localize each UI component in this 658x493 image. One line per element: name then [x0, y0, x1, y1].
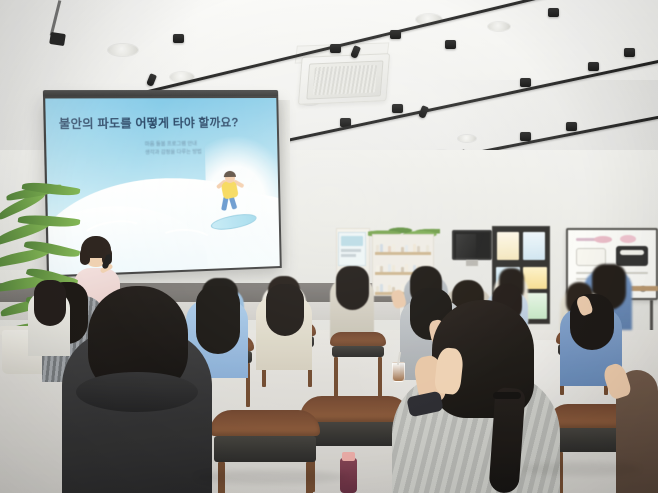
floor-shadow — [196, 470, 346, 484]
spotlight-icon — [445, 40, 456, 49]
photograph-lecture-room: 불안의 파도를 어떻게 타야 할까요? 마음 돌봄 프로그램 안내 생각과 감정… — [0, 0, 658, 493]
spotlight-icon — [392, 104, 403, 113]
spotlight-icon — [390, 30, 401, 39]
spotlight-icon — [588, 62, 599, 71]
wall-sign-graphic — [341, 236, 363, 246]
spotlight-icon — [330, 44, 341, 53]
air-conditioner-unit — [298, 53, 390, 105]
poster — [523, 232, 545, 260]
whiteboard-note — [620, 250, 644, 255]
audience-hair — [266, 284, 304, 336]
monitor-stand — [466, 260, 478, 266]
hair-tie — [493, 392, 521, 399]
ac-grill — [313, 65, 377, 96]
spotlight-icon — [624, 48, 635, 57]
audience-hair — [34, 280, 66, 326]
whiteboard-note — [616, 246, 648, 266]
audience-hair — [196, 286, 240, 354]
surfer-illustration — [216, 171, 247, 218]
bottle-cap — [342, 452, 355, 461]
poster — [497, 232, 519, 260]
slide-subtitle: 마음 돌봄 프로그램 안내 생각과 감정을 다루는 방법 — [145, 140, 258, 157]
spotlight-icon — [520, 78, 531, 87]
whiteboard-note — [594, 236, 612, 243]
whiteboard-note — [620, 235, 636, 243]
projector-device — [49, 32, 66, 46]
spotlight-icon — [173, 34, 184, 43]
book-row — [376, 239, 430, 252]
spotlight-icon — [520, 132, 531, 141]
wall-sign-textline — [341, 254, 356, 257]
wall-monitor — [452, 230, 492, 260]
ceiling-speaker-icon — [458, 135, 476, 142]
ceiling-speaker-icon — [108, 44, 138, 56]
audience-hair — [336, 266, 369, 310]
spotlight-icon — [566, 122, 577, 131]
floor-shadow — [520, 462, 640, 476]
ceiling-speaker-icon — [488, 22, 510, 31]
hoodie-collar — [76, 372, 198, 412]
slide-title: 불안의 파도를 어떻게 타야 할까요? — [59, 114, 267, 132]
wall-sign-textline — [341, 249, 361, 252]
spotlight-icon — [548, 8, 559, 17]
